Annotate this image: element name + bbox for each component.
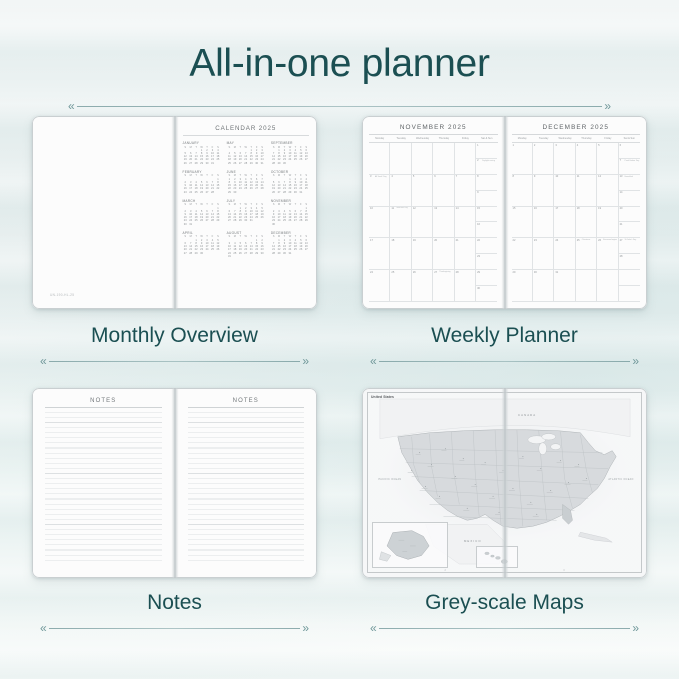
notes-title: NOTES bbox=[188, 398, 305, 408]
planner-half-day[interactable]: 30 bbox=[476, 286, 497, 301]
weekday-header-cell: Tuesday bbox=[390, 137, 411, 140]
mini-month: NOVEMBERSMTWTFS1234567891011121314151617… bbox=[271, 199, 309, 226]
day-number: 20 bbox=[620, 207, 623, 210]
day-number: 26 bbox=[413, 271, 416, 274]
open-book: United States bbox=[362, 388, 647, 578]
country-label-mexico: MEXICO bbox=[464, 539, 482, 543]
planner-day-cell[interactable]: 1516 bbox=[476, 207, 497, 239]
planner-day-cell[interactable] bbox=[619, 270, 640, 302]
day-number: 5 bbox=[413, 175, 414, 178]
day-number: 7 bbox=[456, 175, 457, 178]
hawaii-graphic bbox=[477, 547, 517, 567]
day-number: 9 bbox=[477, 191, 478, 194]
planner-day-cell[interactable]: 20 bbox=[433, 238, 454, 270]
planner-day-cell[interactable]: 29 bbox=[512, 270, 533, 302]
weekday-header-cell: Friday bbox=[597, 137, 618, 140]
weekday-header-cell: Friday bbox=[455, 137, 476, 140]
day-number: 1 bbox=[513, 144, 514, 147]
day-number: 29 bbox=[513, 271, 516, 274]
country-label-canada: CANADA bbox=[518, 413, 536, 417]
mini-month: JANUARYSMTWTFS12345678910111213141516171… bbox=[183, 141, 221, 165]
day-number: 12 bbox=[413, 207, 416, 210]
planner-day-cell[interactable]: 31 bbox=[554, 270, 575, 302]
mini-week-row: 3031 bbox=[183, 223, 221, 226]
divider-monthly-overview: « » bbox=[40, 355, 309, 367]
planner-day-cell[interactable]: 13 bbox=[433, 207, 454, 239]
day-number: 24 bbox=[555, 239, 558, 242]
divider-grey-scale-maps: « » bbox=[370, 622, 639, 634]
planner-day-cell[interactable]: 24 bbox=[369, 270, 390, 302]
planner-day-cell[interactable]: 19 bbox=[412, 238, 433, 270]
day-number: 27 bbox=[620, 239, 623, 242]
panel-notes: NOTES NOTES bbox=[32, 388, 317, 578]
weekday-header-cell: Thursday bbox=[433, 137, 454, 140]
day-note: Christmas bbox=[582, 239, 591, 241]
weekly-page-december: DECEMBER 2025 MondayTuesdayWednesdayThur… bbox=[505, 116, 648, 309]
day-number: 3 bbox=[370, 175, 371, 178]
open-book: UN-190-HL-25 CALENDAR 2025 JANUARYSMTWTF… bbox=[32, 116, 317, 309]
planner-half-day[interactable]: 1 bbox=[476, 143, 497, 159]
mini-week-row: 25262728293031 bbox=[227, 162, 265, 165]
month-day-grid: 12Daylight saving3All Souls' Day45678910… bbox=[369, 143, 498, 302]
day-number: 18 bbox=[577, 207, 580, 210]
weekday-header-cell: Monday bbox=[512, 137, 533, 140]
planner-day-cell[interactable] bbox=[412, 143, 433, 175]
day-number: 9 bbox=[534, 175, 535, 178]
planner-day-cell[interactable]: 12 bbox=[412, 207, 433, 239]
planner-day-cell[interactable]: 2021 bbox=[619, 207, 640, 239]
book-page-right: CALENDAR 2025 JANUARYSMTWTFS123456789101… bbox=[175, 116, 318, 309]
day-number: 10 bbox=[370, 207, 373, 210]
day-number: 15 bbox=[513, 207, 516, 210]
day-number: 8 bbox=[477, 175, 478, 178]
day-number: 13 bbox=[620, 175, 623, 178]
planner-day-cell[interactable]: 13Hanukkah14 bbox=[619, 175, 640, 207]
day-number: 2 bbox=[534, 144, 535, 147]
planner-day-cell[interactable]: 23 bbox=[533, 238, 554, 270]
planner-day-cell[interactable]: 2223 bbox=[476, 238, 497, 270]
day-number: 21 bbox=[456, 239, 459, 242]
planner-day-cell[interactable]: 22 bbox=[512, 238, 533, 270]
panel-weekly-planner: NOVEMBER 2025 MondayTuesdayWednesdayThur… bbox=[362, 116, 647, 309]
caption-weekly-planner: Weekly Planner bbox=[362, 325, 647, 346]
mini-month-name: MAY bbox=[227, 141, 265, 145]
planner-day-cell[interactable]: 10 bbox=[369, 207, 390, 239]
day-note: Hanukkah bbox=[625, 176, 634, 178]
month-title: DECEMBER 2025 bbox=[512, 124, 641, 135]
planner-half-day[interactable]: 14 bbox=[619, 191, 640, 206]
day-number: 13 bbox=[434, 207, 437, 210]
mini-month: OCTOBERSMTWTFS12345678910111213141516171… bbox=[271, 170, 309, 194]
title-divider: « » bbox=[68, 100, 611, 112]
map-inset-hawaii bbox=[476, 546, 518, 568]
day-number: 11 bbox=[577, 175, 580, 178]
day-number: 25 bbox=[577, 239, 580, 242]
planner-day-cell[interactable]: 14 bbox=[455, 207, 476, 239]
mini-week-row: 2728293031 bbox=[227, 219, 265, 222]
planner-day-cell[interactable]: 10 bbox=[554, 175, 575, 207]
planner-day-cell[interactable]: 67Pearl Harbor Day bbox=[619, 143, 640, 175]
planner-half-day[interactable]: 20 bbox=[619, 207, 640, 223]
day-note: All Souls' Day bbox=[375, 176, 387, 178]
day-number: 6 bbox=[434, 175, 435, 178]
planner-day-cell[interactable]: 1 bbox=[512, 143, 533, 175]
mini-week-row: 262728293031 bbox=[183, 162, 221, 165]
mini-month: JUNESMTWTFS12345678910111213141516171819… bbox=[227, 170, 265, 194]
planner-day-cell[interactable]: 7 bbox=[455, 175, 476, 207]
planner-half-day[interactable]: 2Daylight saving bbox=[476, 159, 497, 174]
day-number: 18 bbox=[391, 239, 394, 242]
planner-day-cell[interactable]: 89 bbox=[476, 175, 497, 207]
mini-month-name: SEPTEMBER bbox=[271, 141, 309, 145]
planner-day-cell[interactable]: 5 bbox=[597, 143, 618, 175]
planner-half-day[interactable] bbox=[619, 286, 640, 301]
planner-day-cell[interactable]: 2 bbox=[533, 143, 554, 175]
day-number: 30 bbox=[477, 287, 480, 290]
planner-half-day[interactable]: 16 bbox=[476, 222, 497, 237]
day-number: 4 bbox=[577, 144, 578, 147]
planner-half-day[interactable]: 22 bbox=[476, 238, 497, 254]
alaska-graphic bbox=[373, 523, 447, 567]
planner-half-day[interactable]: 28 bbox=[619, 254, 640, 269]
weekday-header-row: MondayTuesdayWednesdayThursdayFridaySat … bbox=[512, 135, 641, 143]
planner-day-cell[interactable] bbox=[597, 270, 618, 302]
planner-day-cell[interactable]: 17 bbox=[554, 207, 575, 239]
mini-month: SEPTEMBERSMTWTFS123456789101112131415161… bbox=[271, 141, 309, 165]
mini-week-row: 30 bbox=[271, 223, 309, 226]
day-note: St John's Day bbox=[625, 239, 637, 241]
day-number: 25 bbox=[391, 271, 394, 274]
planner-day-cell[interactable] bbox=[433, 143, 454, 175]
weekday-header-row: MondayTuesdayWednesdayThursdayFridaySat … bbox=[369, 135, 498, 143]
mini-month-name: JANUARY bbox=[183, 141, 221, 145]
divider-weekly-planner: « » bbox=[370, 355, 639, 367]
day-note: Kwanzaa begins bbox=[603, 239, 617, 241]
planner-day-cell[interactable]: 26Kwanzaa begins bbox=[597, 238, 618, 270]
ocean-label-pacific: PACIFIC OCEAN bbox=[374, 479, 406, 482]
day-number: 27 bbox=[434, 271, 437, 274]
planner-day-cell[interactable] bbox=[455, 143, 476, 175]
mini-week-row: 2930 bbox=[227, 191, 265, 194]
mini-week-row: 282930 bbox=[271, 162, 309, 165]
day-number: 22 bbox=[477, 239, 480, 242]
day-number: 20 bbox=[434, 239, 437, 242]
day-number: 28 bbox=[456, 271, 459, 274]
planner-day-cell[interactable]: 9 bbox=[533, 175, 554, 207]
day-number: 16 bbox=[477, 223, 480, 226]
calendar-title: CALENDAR 2025 bbox=[183, 125, 310, 136]
day-number: 17 bbox=[370, 239, 373, 242]
chevron-right-icon: » bbox=[604, 100, 611, 112]
planner-day-cell[interactable]: 21 bbox=[455, 238, 476, 270]
weekday-header-cell: Wednesday bbox=[554, 137, 575, 140]
day-number: 26 bbox=[598, 239, 601, 242]
planner-day-cell[interactable]: 27Thanksgiving bbox=[433, 270, 454, 302]
divider-notes: « » bbox=[40, 622, 309, 634]
month-day-grid: 1234567Pearl Harbor Day8910111213Hanukka… bbox=[512, 143, 641, 302]
planner-half-day[interactable]: 23 bbox=[476, 254, 497, 269]
day-number: 16 bbox=[534, 207, 537, 210]
planner-half-day[interactable]: 29 bbox=[476, 270, 497, 286]
day-number: 6 bbox=[620, 144, 621, 147]
weekday-header-cell: Sat & Sun bbox=[476, 137, 497, 140]
open-book: NOVEMBER 2025 MondayTuesdayWednesdayThur… bbox=[362, 116, 647, 309]
book-page-left: UN-190-HL-25 bbox=[32, 116, 175, 309]
divider-line bbox=[49, 628, 301, 629]
planner-day-cell[interactable]: 26 bbox=[412, 270, 433, 302]
chevron-right-icon: » bbox=[302, 355, 309, 367]
planner-half-day[interactable]: 21 bbox=[619, 222, 640, 237]
planner-day-cell[interactable]: 5 bbox=[412, 175, 433, 207]
product-code: UN-190-HL-25 bbox=[50, 293, 74, 297]
map-inset-alaska bbox=[372, 522, 448, 568]
day-number: 8 bbox=[513, 175, 514, 178]
divider-line bbox=[379, 628, 631, 629]
mini-week-row: 232425262728 bbox=[183, 191, 221, 194]
planner-day-cell[interactable]: 4 bbox=[390, 175, 411, 207]
divider-line bbox=[379, 361, 631, 362]
ocean-label-atlantic: ATLANTIC OCEAN bbox=[605, 479, 637, 482]
day-number: 29 bbox=[477, 271, 480, 274]
caption-grey-scale-maps: Grey-scale Maps bbox=[362, 592, 647, 613]
day-note: Veterans Day bbox=[396, 207, 407, 209]
planner-day-cell[interactable]: 12Daylight saving bbox=[476, 143, 497, 175]
day-number: 23 bbox=[534, 239, 537, 242]
planner-day-cell[interactable]: 18 bbox=[390, 238, 411, 270]
book-page-right: NOTES bbox=[175, 388, 318, 578]
planner-day-cell[interactable]: 6 bbox=[433, 175, 454, 207]
day-number: 2 bbox=[477, 159, 478, 162]
planner-half-day[interactable]: 7Pearl Harbor Day bbox=[619, 159, 640, 174]
panel-grey-scale-maps: United States bbox=[362, 388, 647, 578]
mini-week-row: 31 bbox=[227, 255, 265, 258]
day-number: 5 bbox=[598, 144, 599, 147]
map-spread: United States bbox=[362, 388, 647, 578]
calendar-page: CALENDAR 2025 JANUARYSMTWTFS123456789101… bbox=[175, 116, 318, 309]
page-number-left: 2 bbox=[444, 569, 445, 572]
mini-week-row: 27282930 bbox=[183, 252, 221, 255]
ruled-lines bbox=[188, 412, 305, 564]
planner-day-cell[interactable]: 15 bbox=[512, 207, 533, 239]
day-number: 21 bbox=[620, 223, 623, 226]
chevron-left-icon: « bbox=[370, 355, 377, 367]
day-note: Pearl Harbor Day bbox=[625, 160, 640, 162]
day-note: Thanksgiving bbox=[439, 271, 450, 273]
planner-day-cell[interactable]: 19 bbox=[597, 207, 618, 239]
planner-day-cell[interactable]: 25 bbox=[390, 270, 411, 302]
ruled-lines bbox=[45, 412, 162, 564]
mini-week-row: 262728293031 bbox=[271, 191, 309, 194]
panel-monthly-overview: UN-190-HL-25 CALENDAR 2025 JANUARYSMTWTF… bbox=[32, 116, 317, 309]
page-title: All-in-one planner bbox=[0, 44, 679, 83]
chevron-right-icon: » bbox=[302, 622, 309, 634]
planner-day-cell[interactable] bbox=[576, 270, 597, 302]
mini-month: APRILSMTWTFS1234567891011121314151617181… bbox=[183, 231, 221, 258]
planner-day-cell[interactable] bbox=[369, 143, 390, 175]
day-number: 7 bbox=[620, 159, 621, 162]
planner-half-day[interactable]: 9 bbox=[476, 191, 497, 206]
map-frame: United States bbox=[367, 392, 642, 573]
infographic-page: All-in-one planner « » UN-190-HL-25 CALE… bbox=[0, 0, 679, 679]
divider-line bbox=[49, 361, 301, 362]
mini-month: JULYSMTWTFS12345678910111213141516171819… bbox=[227, 199, 265, 226]
map-title: United States bbox=[371, 395, 394, 399]
planner-day-cell[interactable]: 17 bbox=[369, 238, 390, 270]
planner-day-cell[interactable]: 24 bbox=[554, 238, 575, 270]
chevron-left-icon: « bbox=[40, 355, 47, 367]
planner-day-cell[interactable]: 28 bbox=[455, 270, 476, 302]
chevron-left-icon: « bbox=[68, 100, 75, 112]
mini-month: FEBRUARYSMTWTFS1234567891011121314151617… bbox=[183, 170, 221, 194]
weekly-page-november: NOVEMBER 2025 MondayTuesdayWednesdayThur… bbox=[362, 116, 505, 309]
open-book: NOTES NOTES bbox=[32, 388, 317, 578]
book-page-left: NOTES bbox=[32, 388, 175, 578]
mini-month: MARCHSMTWTFS1234567891011121314151617181… bbox=[183, 199, 221, 226]
book-page-right: DECEMBER 2025 MondayTuesdayWednesdayThur… bbox=[505, 116, 648, 309]
chevron-left-icon: « bbox=[40, 622, 47, 634]
planner-half-day[interactable]: 27St John's Day bbox=[619, 238, 640, 254]
day-number: 28 bbox=[620, 255, 623, 258]
day-number: 17 bbox=[555, 207, 558, 210]
chevron-left-icon: « bbox=[370, 622, 377, 634]
planner-half-day[interactable]: 6 bbox=[619, 143, 640, 159]
planner-day-cell[interactable]: 27St John's Day28 bbox=[619, 238, 640, 270]
weekday-header-cell: Monday bbox=[369, 137, 390, 140]
day-number: 31 bbox=[555, 271, 558, 274]
day-number: 10 bbox=[555, 175, 558, 178]
planner-day-cell[interactable]: 2930 bbox=[476, 270, 497, 302]
day-number: 19 bbox=[598, 207, 601, 210]
planner-day-cell[interactable]: 4 bbox=[576, 143, 597, 175]
planner-half-day[interactable]: 13Hanukkah bbox=[619, 175, 640, 191]
planner-half-day[interactable]: 15 bbox=[476, 207, 497, 223]
planner-half-day[interactable] bbox=[619, 270, 640, 286]
divider-line bbox=[77, 106, 603, 107]
weekday-header-cell: Sat & Sun bbox=[619, 137, 640, 140]
day-number: 22 bbox=[513, 239, 516, 242]
weekday-header-cell: Thursday bbox=[576, 137, 597, 140]
planner-day-cell[interactable] bbox=[390, 143, 411, 175]
day-number: 24 bbox=[370, 271, 373, 274]
planner-day-cell[interactable]: 12 bbox=[597, 175, 618, 207]
mini-month: DECEMBERSMTWTFS1234567891011121314151617… bbox=[271, 231, 309, 258]
notes-page-right: NOTES bbox=[175, 388, 318, 578]
day-note: Daylight saving bbox=[482, 160, 495, 162]
planner-day-cell[interactable]: 16 bbox=[533, 207, 554, 239]
planner-day-cell[interactable]: 3 bbox=[554, 143, 575, 175]
day-number: 23 bbox=[477, 255, 480, 258]
chevron-right-icon: » bbox=[632, 622, 639, 634]
day-number: 14 bbox=[456, 207, 459, 210]
planner-day-cell[interactable]: 30 bbox=[533, 270, 554, 302]
chevron-right-icon: » bbox=[632, 355, 639, 367]
day-number: 11 bbox=[391, 207, 394, 210]
notes-page-left: NOTES bbox=[32, 388, 175, 578]
day-number: 1 bbox=[477, 144, 478, 147]
day-number: 14 bbox=[620, 191, 623, 194]
mini-month: AUGUSTSMTWTFS123456789101112131415161718… bbox=[227, 231, 265, 258]
caption-monthly-overview: Monthly Overview bbox=[32, 325, 317, 346]
mini-month: MAYSMTWTFS123456789101112131415161718192… bbox=[227, 141, 265, 165]
weekday-header-cell: Wednesday bbox=[412, 137, 433, 140]
planner-day-cell[interactable]: 11Veterans Day bbox=[390, 207, 411, 239]
day-number: 3 bbox=[555, 144, 556, 147]
day-number: 19 bbox=[413, 239, 416, 242]
day-number: 30 bbox=[534, 271, 537, 274]
day-number: 12 bbox=[598, 175, 601, 178]
planner-day-cell[interactable]: 18 bbox=[576, 207, 597, 239]
planner-day-cell[interactable]: 3All Souls' Day bbox=[369, 175, 390, 207]
day-number: 4 bbox=[391, 175, 392, 178]
notes-title: NOTES bbox=[45, 398, 162, 408]
month-title: NOVEMBER 2025 bbox=[369, 124, 498, 135]
caption-notes: Notes bbox=[32, 592, 317, 613]
calendar-month-grid: JANUARYSMTWTFS12345678910111213141516171… bbox=[183, 141, 310, 258]
planner-day-cell[interactable]: 11 bbox=[576, 175, 597, 207]
page-number-right: 3 bbox=[563, 569, 564, 572]
day-number: 15 bbox=[477, 207, 480, 210]
book-page-left: NOVEMBER 2025 MondayTuesdayWednesdayThur… bbox=[362, 116, 505, 309]
weekday-header-cell: Tuesday bbox=[533, 137, 554, 140]
planner-day-cell[interactable]: 25Christmas bbox=[576, 238, 597, 270]
mini-week-row: 28293031 bbox=[271, 252, 309, 255]
planner-half-day[interactable]: 8 bbox=[476, 175, 497, 191]
planner-day-cell[interactable]: 8 bbox=[512, 175, 533, 207]
